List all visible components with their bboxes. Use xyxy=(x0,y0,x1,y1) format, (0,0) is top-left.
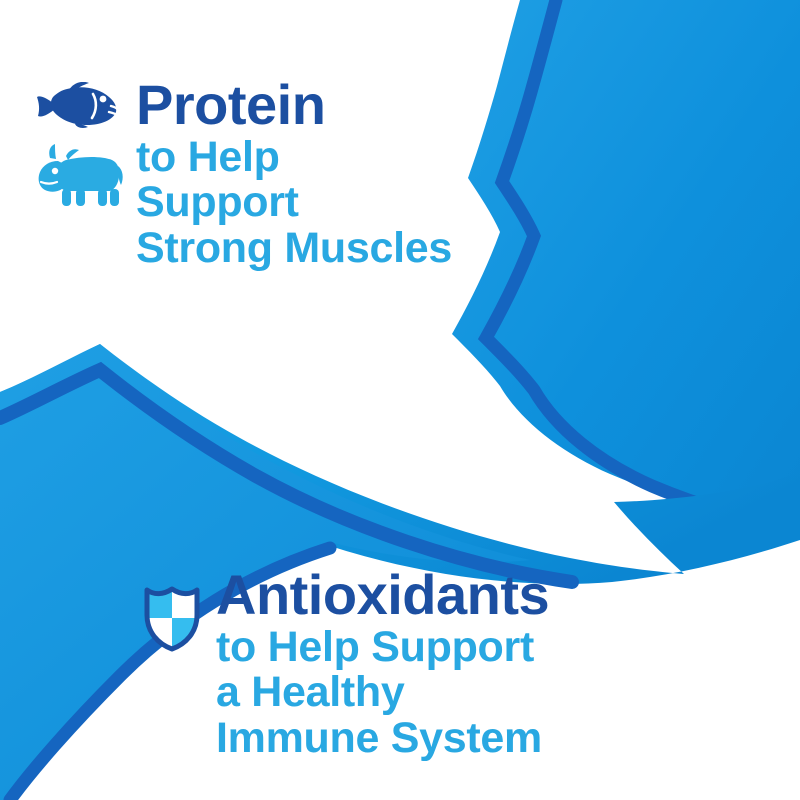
protein-icon-column xyxy=(26,78,134,208)
benefit-subtitle-antioxidants: to Help Support a Healthy Immune System xyxy=(216,625,750,762)
fish-icon xyxy=(37,82,123,128)
subtitle-line: to Help Support xyxy=(216,625,750,671)
top-right-blue-panel xyxy=(452,0,800,528)
cow-icon xyxy=(36,144,124,208)
benefit-block-antioxidants: Antioxidants to Help Support a Healthy I… xyxy=(130,568,750,762)
shield-icon xyxy=(141,582,203,652)
promo-graphic: Protein to Help Support Strong Muscles xyxy=(0,0,800,800)
benefit-title-antioxidants: Antioxidants xyxy=(216,568,750,623)
benefit-title-protein: Protein xyxy=(136,78,496,133)
subtitle-line: Immune System xyxy=(216,716,750,762)
antioxidants-icon-column xyxy=(130,568,214,652)
subtitle-line: Support xyxy=(136,180,496,226)
protein-text-column: Protein to Help Support Strong Muscles xyxy=(134,78,496,272)
subtitle-line: a Healthy xyxy=(216,670,750,716)
antioxidants-text-column: Antioxidants to Help Support a Healthy I… xyxy=(214,568,750,762)
benefit-subtitle-protein: to Help Support Strong Muscles xyxy=(136,135,496,272)
subtitle-line: Strong Muscles xyxy=(136,226,496,272)
subtitle-line: to Help xyxy=(136,135,496,181)
benefit-block-protein: Protein to Help Support Strong Muscles xyxy=(26,78,496,272)
